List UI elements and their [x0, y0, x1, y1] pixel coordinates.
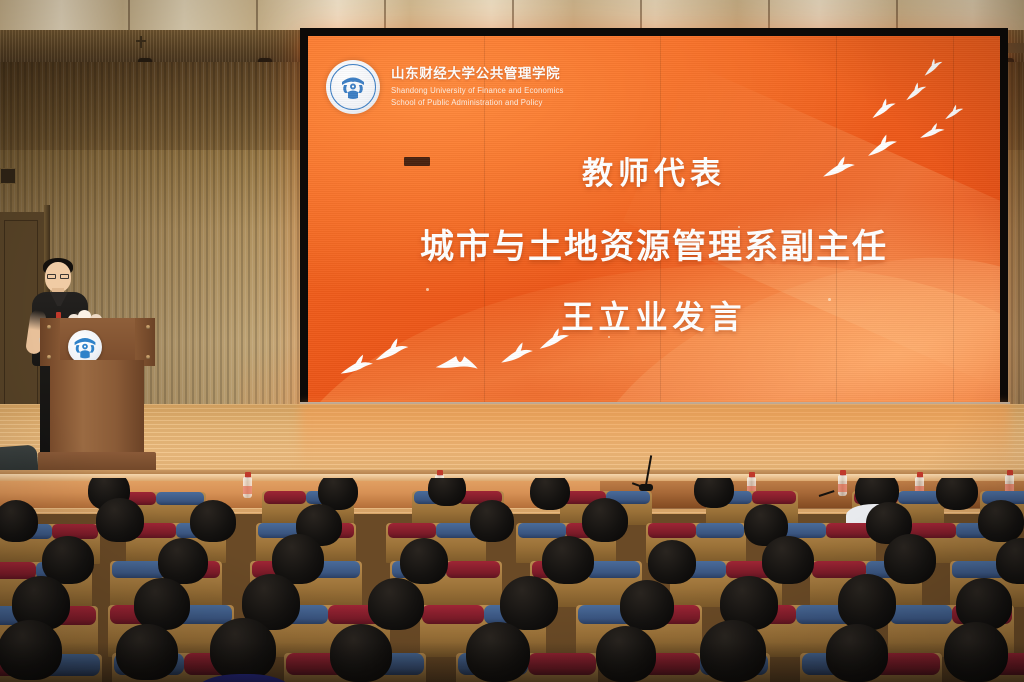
screen-sparkle	[738, 226, 740, 228]
seat-cushion	[648, 523, 696, 538]
led-screen-frame: 山东财经大学公共管理学院 Shandong University of Fina…	[300, 28, 1008, 418]
attendee-head	[368, 578, 424, 630]
crane-icon	[434, 347, 481, 373]
seat-cushion	[422, 605, 484, 624]
attendee-head	[620, 580, 674, 630]
seat-cushion	[696, 523, 744, 538]
crane-icon	[940, 100, 969, 122]
attendee-head	[582, 498, 628, 542]
screen-logo-text: 山东财经大学公共管理学院 Shandong University of Fina…	[391, 66, 564, 108]
attendee-head	[542, 536, 594, 584]
foreground-shadow	[0, 642, 1024, 682]
podium-body	[50, 360, 144, 456]
floor-reflection	[300, 404, 1010, 474]
screen-sparkle	[828, 298, 831, 301]
podium-side-right	[135, 318, 155, 366]
ceiling-bracket	[140, 36, 142, 48]
attendee-head	[0, 500, 38, 542]
organization-name-en-line2: School of Public Administration and Poli…	[391, 98, 564, 108]
attendee-head	[648, 540, 696, 584]
attendee-head	[978, 500, 1024, 542]
seat-cushion	[890, 605, 952, 624]
podium-stud	[146, 355, 150, 359]
screen-sparkle	[608, 336, 610, 338]
led-screen: 山东财经大学公共管理学院 Shandong University of Fina…	[308, 36, 1000, 410]
attendee-head	[400, 538, 448, 584]
podium-stud	[47, 355, 51, 359]
seat-cushion	[156, 492, 204, 505]
emblem-mark	[335, 69, 371, 105]
organization-name-en-line1: Shandong University of Finance and Econo…	[391, 86, 564, 96]
attendee-head	[838, 574, 896, 630]
attendee-head	[884, 534, 936, 584]
shandong-university-emblem-icon	[326, 60, 380, 114]
glasses-icon	[47, 274, 69, 279]
glasses-lens	[47, 274, 56, 279]
attendee-head	[936, 478, 978, 510]
attendee-head	[530, 478, 570, 510]
seat-cushion	[518, 523, 566, 538]
podium-university-emblem-icon	[68, 330, 102, 364]
seat-cushion	[586, 561, 640, 578]
screen-title-block: 教师代表 城市与土地资源管理系副主任 王立业发言	[308, 148, 1000, 338]
attendee-head	[134, 578, 190, 630]
attendee-head	[190, 500, 236, 542]
wall-vent-icon	[0, 168, 16, 184]
attendee-head	[762, 536, 814, 584]
title-line-3: 王立业发言	[308, 292, 1000, 338]
seat-cushion	[0, 562, 36, 579]
attendee-head	[158, 538, 208, 584]
screen-sparkle	[426, 288, 429, 291]
attendee-head	[428, 478, 466, 506]
seat-cushion	[752, 491, 796, 504]
seat-cushion	[388, 523, 436, 538]
title-line-1: 教师代表	[308, 148, 1000, 193]
attendee-head	[694, 478, 734, 508]
attendee-head	[500, 576, 558, 630]
glasses-lens	[60, 274, 69, 279]
ceiling-seam	[256, 0, 258, 34]
title-line-2: 城市与土地资源管理系副主任	[308, 219, 1000, 268]
crane-icon	[918, 53, 950, 80]
seat-cushion	[446, 561, 500, 578]
screen-logo-block: 山东财经大学公共管理学院 Shandong University of Fina…	[326, 60, 564, 114]
crane-icon	[900, 77, 934, 104]
organization-name-cn: 山东财经大学公共管理学院	[391, 66, 564, 84]
attendee-head	[470, 500, 514, 542]
crane-icon	[866, 93, 904, 122]
attendee-head	[96, 498, 144, 542]
podium-stud	[47, 325, 51, 329]
podium-stud	[146, 325, 150, 329]
seat-cushion	[264, 491, 306, 504]
crane-icon	[917, 120, 951, 141]
auditorium-photo: 山东财经大学公共管理学院 Shandong University of Fina…	[0, 0, 1024, 682]
ceiling-seam	[128, 0, 130, 34]
